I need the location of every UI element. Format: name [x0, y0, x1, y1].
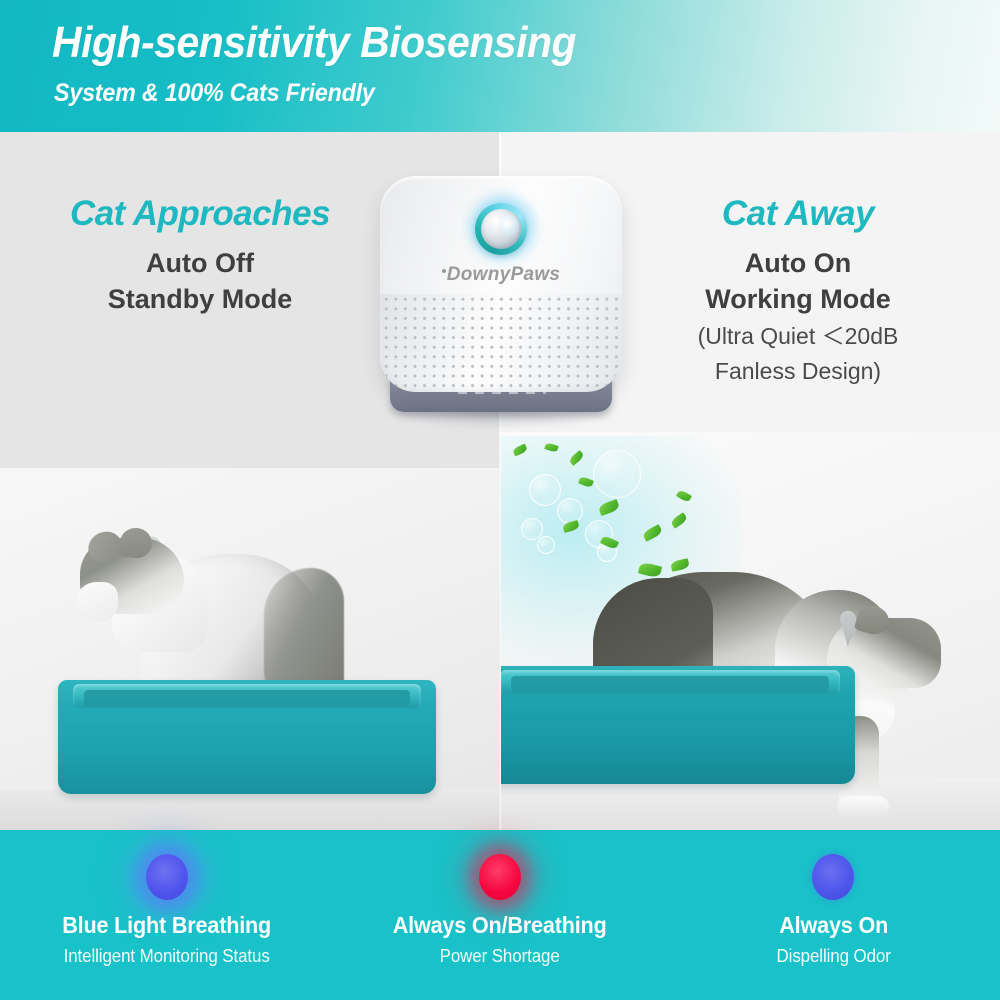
logo-paw-dot	[442, 269, 446, 273]
brand-initial: D	[447, 264, 461, 285]
right-photo-cat-away	[501, 432, 1000, 830]
led-blue-solid-icon	[812, 854, 854, 900]
brand-logo: DownyPaws	[380, 264, 622, 286]
led-dome	[481, 209, 521, 249]
left-photo-floor	[0, 790, 499, 830]
product-feature-image: High-sensitivity Biosensing System & 100…	[0, 0, 1000, 1000]
led-blue-breathing-icon	[146, 854, 188, 900]
header-banner: High-sensitivity Biosensing System & 100…	[0, 0, 1000, 132]
right-panel-text: Cat Away Auto On Working Mode (Ultra Qui…	[608, 194, 988, 387]
status-title: Always On	[677, 912, 990, 939]
device-body: DownyPaws	[380, 176, 622, 392]
status-item-blue-breathing: Blue Light Breathing Intelligent Monitor…	[0, 830, 333, 1000]
led-highlight	[500, 215, 518, 240]
left-line-1: Auto Off	[10, 246, 390, 282]
litter-box-interior	[84, 690, 409, 706]
led-red-icon	[479, 854, 521, 900]
device-vent-shading	[380, 294, 622, 392]
right-heading: Cat Away	[608, 194, 988, 234]
status-item-red-power: Always On/Breathing Power Shortage	[333, 830, 666, 1000]
litter-box-right	[501, 666, 855, 784]
left-panel-text: Cat Approaches Auto Off Standby Mode	[10, 194, 390, 317]
bubble-icon	[557, 498, 583, 524]
right-photo-floor	[501, 778, 1000, 830]
brand-name: ownyPaws	[461, 264, 561, 285]
odor-eliminator-device: DownyPaws	[372, 172, 630, 440]
left-heading: Cat Approaches	[10, 194, 390, 234]
status-subtitle: Dispelling Odor	[677, 946, 990, 967]
bubble-icon	[521, 518, 543, 540]
bubble-icon	[537, 536, 555, 554]
cat-paw	[837, 796, 889, 818]
litter-box-interior	[511, 676, 829, 692]
status-item-blue-solid: Always On Dispelling Odor	[667, 830, 1000, 1000]
status-subtitle: Intelligent Monitoring Status	[10, 946, 323, 967]
left-photo-cat-approaching	[0, 468, 499, 830]
comparison-area: Cat Approaches Auto Off Standby Mode Cat…	[0, 132, 1000, 830]
header-title: High-sensitivity Biosensing	[52, 18, 576, 68]
status-title: Blue Light Breathing	[10, 912, 323, 939]
right-line-2: Working Mode	[608, 282, 988, 318]
led-status-legend: Blue Light Breathing Intelligent Monitor…	[0, 830, 1000, 1000]
right-note-2: Fanless Design)	[608, 357, 988, 387]
left-line-2: Standby Mode	[10, 282, 390, 318]
bubble-icon	[529, 474, 561, 506]
header-subtitle: System & 100% Cats Friendly	[54, 79, 375, 108]
status-row: Blue Light Breathing Intelligent Monitor…	[0, 830, 1000, 1000]
right-note-1: (Ultra Quiet ＜20dB	[608, 322, 988, 352]
status-title: Always On/Breathing	[343, 912, 656, 939]
litter-box-left	[58, 680, 436, 794]
status-subtitle: Power Shortage	[343, 946, 656, 967]
power-button-icon[interactable]	[475, 203, 527, 255]
right-line-1: Auto On	[608, 246, 988, 282]
bubble-icon	[593, 450, 641, 498]
cat-muzzle	[76, 582, 118, 622]
